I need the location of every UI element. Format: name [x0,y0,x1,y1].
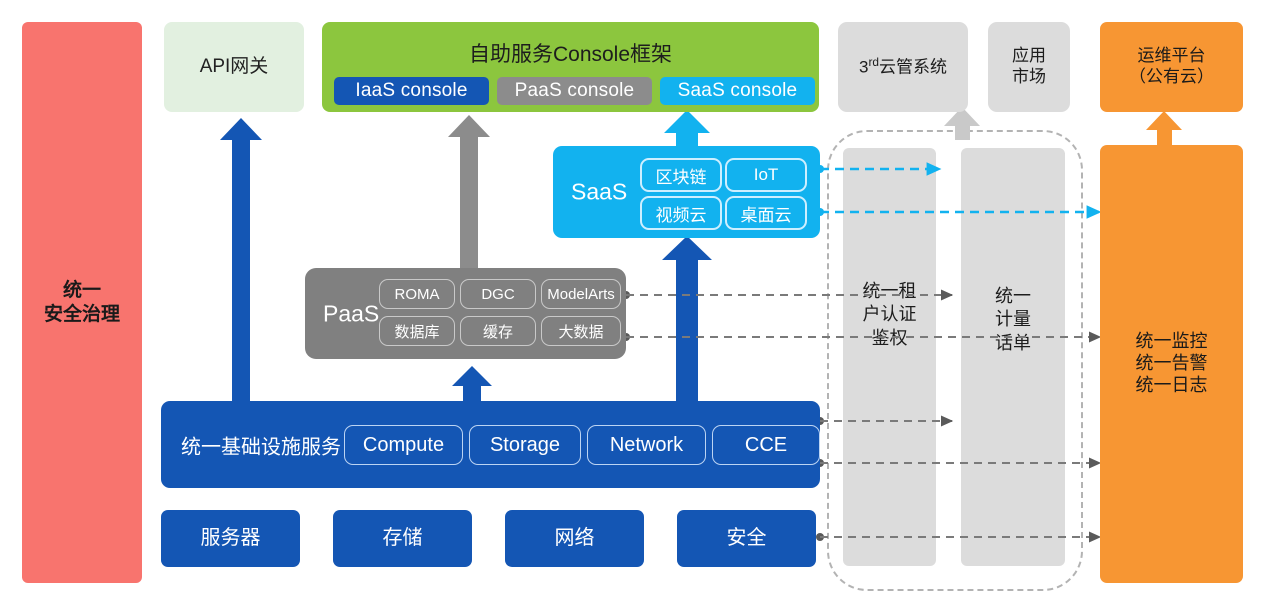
billing-line-2: 计量 [961,308,1065,331]
saas-item-video-cloud[interactable]: 视频云 [640,196,722,230]
infra-item-compute-label: Compute [363,434,444,457]
arrow-saas-to-saas-console [664,110,710,148]
resource-box-server[interactable]: 服务器 [161,510,300,567]
infra-item-network[interactable]: Network [587,425,706,465]
paas-item-roma[interactable]: ROMA [379,279,455,309]
infra-item-storage-label: Storage [490,434,560,457]
saas-item-desktop-cloud-label: 桌面云 [741,201,792,226]
paas-item-bigdata-label: 大数据 [558,321,603,342]
ops-platform-line-1: 运维平台 [1138,46,1206,67]
security-line-2: 安全治理 [44,303,120,326]
console-title: 自助服务Console框架 [322,38,819,68]
paas-item-cache-label: 缓存 [483,321,513,342]
auth-line-3: 鉴权 [843,327,936,350]
chip-saas-console-label: SaaS console [678,80,798,102]
arrow-infra-to-apigw [220,118,262,403]
resource-box-security[interactable]: 安全 [677,510,816,567]
arrow-paas-to-console [448,115,490,268]
saas-item-iot[interactable]: IoT [725,158,807,192]
billing-line-1: 统一 [961,285,1065,308]
infra-item-cce[interactable]: CCE [712,425,820,465]
paas-item-bigdata[interactable]: 大数据 [541,316,621,346]
saas-block: SaaS 区块链 IoT 视频云 桌面云 [553,146,820,238]
app-market-line-1: 应用 [1012,46,1046,67]
infrastructure-block: 统一基础设施服务 Compute Storage Network CCE [161,401,820,488]
saas-item-iot-label: IoT [754,165,779,185]
resource-box-security-label: 安全 [727,526,767,550]
saas-block-label: SaaS [571,179,627,206]
resource-box-network[interactable]: 网络 [505,510,644,567]
chip-saas-console[interactable]: SaaS console [660,77,815,105]
third-party-superscript: rd [868,55,879,69]
paas-item-modelarts-label: ModelArts [547,286,615,303]
chip-iaas-console[interactable]: IaaS console [334,77,489,105]
api-gateway-label: API网关 [200,55,269,78]
paas-item-cache[interactable]: 缓存 [460,316,536,346]
infra-item-cce-label: CCE [745,434,787,457]
paas-item-database-label: 数据库 [394,321,439,342]
saas-item-blockchain[interactable]: 区块链 [640,158,722,192]
chip-paas-console-label: PaaS console [515,80,635,102]
paas-item-modelarts[interactable]: ModelArts [541,279,621,309]
ops-platform-box[interactable]: 运维平台 （公有云） [1100,22,1243,112]
ops-center-line-1: 统一监控 [1136,331,1208,353]
infra-item-storage[interactable]: Storage [469,425,581,465]
ops-platform-line-2: （公有云） [1129,67,1214,88]
security-governance-pillar: 统一 安全治理 [22,22,142,583]
auth-line-2: 户认证 [843,303,936,326]
shared-column-billing [961,148,1065,566]
ops-center-line-3: 统一日志 [1136,375,1208,397]
paas-block: PaaS ROMA DGC ModelArts 数据库 缓存 大数据 [305,268,626,359]
chip-iaas-console-label: IaaS console [355,80,467,102]
saas-item-desktop-cloud[interactable]: 桌面云 [725,196,807,230]
shared-column-billing-label: 统一 计量 话单 [961,285,1065,355]
ops-center-line-2: 统一告警 [1136,353,1208,375]
shared-column-auth-label: 统一租 户认证 鉴权 [843,280,936,350]
shared-column-auth [843,148,936,566]
paas-item-dgc-label: DGC [481,286,514,303]
billing-line-3: 话单 [961,332,1065,355]
resource-box-server-label: 服务器 [201,526,261,550]
third-party-label: 3rd云管系统 [859,55,947,78]
resource-box-network-label: 网络 [555,526,595,550]
architecture-diagram: 统一租 户认证 鉴权 统一 计量 话单 [0,0,1265,605]
saas-item-blockchain-label: 区块链 [656,163,707,188]
paas-item-database[interactable]: 数据库 [379,316,455,346]
ops-center-pillar: 统一监控 统一告警 统一日志 [1100,145,1243,583]
console-framework-box: 自助服务Console框架 IaaS console PaaS console … [322,22,819,112]
resource-box-storage[interactable]: 存储 [333,510,472,567]
auth-line-1: 统一租 [843,280,936,303]
api-gateway-box[interactable]: API网关 [164,22,304,112]
paas-item-dgc[interactable]: DGC [460,279,536,309]
app-market-box[interactable]: 应用 市场 [988,22,1070,112]
arrow-into-ops-platform [1146,111,1182,145]
third-party-cloud-mgmt-box[interactable]: 3rd云管系统 [838,22,968,112]
arrow-infra-to-paas [452,366,492,403]
arrow-infra-to-saas [662,236,712,403]
app-market-line-2: 市场 [1012,67,1046,88]
infrastructure-label: 统一基础设施服务 [181,430,341,459]
infra-item-compute[interactable]: Compute [344,425,463,465]
security-line-1: 统一 [63,279,101,302]
paas-item-roma-label: ROMA [395,286,440,303]
saas-item-video-cloud-label: 视频云 [656,201,707,226]
resource-box-storage-label: 存储 [383,526,423,550]
infra-item-network-label: Network [610,434,683,457]
chip-paas-console[interactable]: PaaS console [497,77,652,105]
paas-block-label: PaaS [323,300,379,327]
